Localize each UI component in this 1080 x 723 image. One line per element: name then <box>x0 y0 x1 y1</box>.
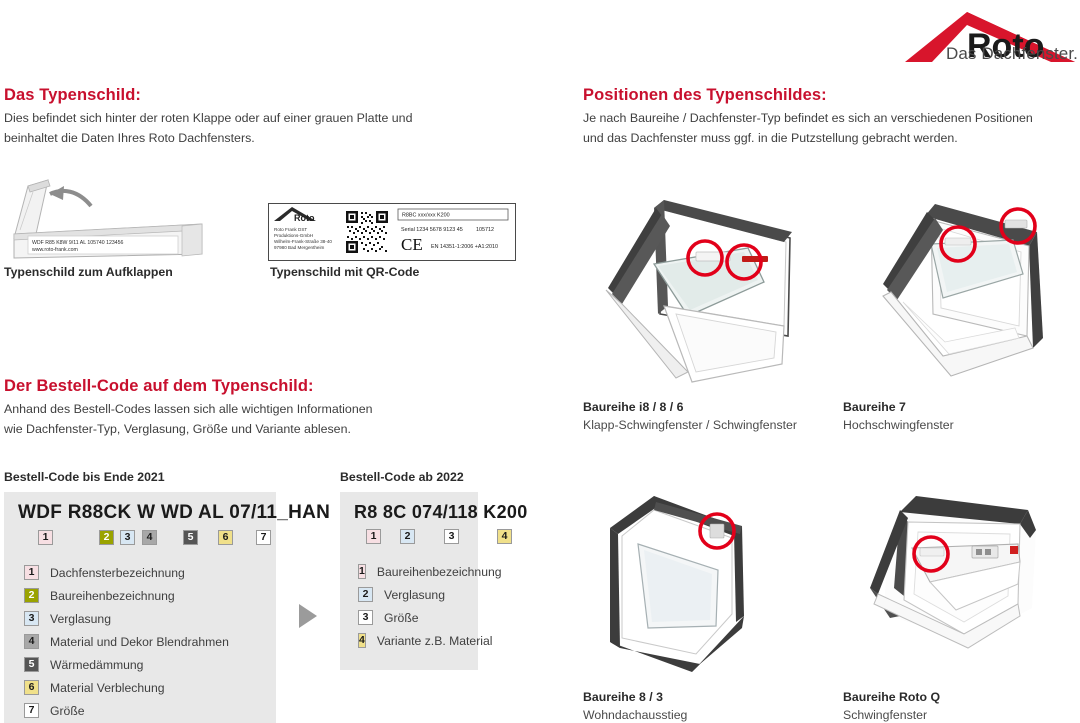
heading-das-typenschild: Das Typenschild: <box>4 86 141 105</box>
qr-address-line2: Produktions-GmbH <box>274 233 313 238</box>
ce-mark-icon: CE <box>401 235 423 254</box>
legend-item: 3Größe <box>358 606 466 629</box>
code-marker-badge-1: 1 <box>38 530 53 545</box>
window-photo-i8-8-6 <box>592 186 812 386</box>
legend-item-label: Wärmedämmung <box>50 658 143 672</box>
legend-item: 4Variante z.B. Material <box>358 629 466 652</box>
window-photo-baureihe-7 <box>847 186 1067 386</box>
legend-item: 6Material Verblechung <box>24 676 264 699</box>
section1-paragraph-line2: beinhaltet die Daten Ihres Roto Dachfens… <box>4 131 255 145</box>
code-old-title: Bestell-Code bis Ende 2021 <box>4 470 165 484</box>
legend-item-label: Variante z.B. Material <box>377 634 493 648</box>
flap-label-line2: www.roto-frank.com <box>32 247 78 253</box>
code-old-string: WDF R88CK W WD AL 07/11_HAN <box>18 502 264 524</box>
right-triangle-arrow-icon <box>299 604 317 628</box>
code-marker-badge-7: 7 <box>24 703 39 718</box>
order-code-panel-old: WDF R88CK W WD AL 07/11_HAN 1234567 1Dac… <box>4 492 276 723</box>
flap-plate-illustration: WDF R85 K8W 9/11 AL 105740 123456 www.ro… <box>6 178 216 256</box>
right-paragraph: Je nach Baureihe / Dachfenster-Typ befin… <box>583 108 1063 148</box>
legend-item: 3Verglasung <box>24 607 264 630</box>
code-marker-badge-3: 3 <box>358 610 373 625</box>
legend-item-label: Material und Dekor Blendrahmen <box>50 635 229 649</box>
code-marker-badge-6: 6 <box>218 530 233 545</box>
code-marker-badge-2: 2 <box>24 588 39 603</box>
section2-paragraph-line2: wie Dachfenster-Typ, Verglasung, Größe u… <box>4 422 351 436</box>
code-marker-badge-5: 5 <box>183 530 198 545</box>
code-marker-badge-5: 5 <box>24 657 39 672</box>
qr-code-field: R8BC xxx/xxx K200 <box>402 213 450 219</box>
code-marker-badge-4: 4 <box>142 530 157 545</box>
legend-item-label: Größe <box>384 611 419 625</box>
window-photo-baureihe-8-3 <box>592 476 802 676</box>
legend-item-label: Material Verblechung <box>50 681 165 695</box>
window-2-title: Baureihe 7 <box>843 400 906 414</box>
heading-positionen: Positionen des Typenschildes: <box>583 86 827 105</box>
right-paragraph-line2: und das Dachfenster muss ggf. in die Put… <box>583 131 958 145</box>
code-new-title: Bestell-Code ab 2022 <box>340 470 464 484</box>
order-code-panel-new: R8 8C 074/118 K200 1234 1Baureihenbezeic… <box>340 492 478 670</box>
roto-logo: Roto <box>905 12 1075 74</box>
code-marker-badge-4: 4 <box>497 529 512 544</box>
code-marker-badge-4: 4 <box>24 634 39 649</box>
window-3-subtitle: Wohndachausstieg <box>583 708 687 722</box>
code-new-legend: 1Baureihenbezeichnung2Verglasung3Größe4V… <box>358 560 466 652</box>
right-paragraph-line1: Je nach Baureihe / Dachfenster-Typ befin… <box>583 111 1033 125</box>
legend-item: 1Baureihenbezeichnung <box>358 560 466 583</box>
code-marker-badge-7: 7 <box>256 530 271 545</box>
code-marker-badge-1: 1 <box>366 529 381 544</box>
legend-item: 4Material und Dekor Blendrahmen <box>24 630 264 653</box>
flap-label-line1: WDF R85 K8W 9/11 AL 105740 123456 <box>32 240 124 246</box>
section2-paragraph-line1: Anhand des Bestell-Codes lassen sich all… <box>4 402 373 416</box>
qr-serial-number: 105712 <box>476 227 494 233</box>
code-marker-badge-2: 2 <box>99 530 114 545</box>
code-marker-badge-3: 3 <box>120 530 135 545</box>
qr-code-icon <box>346 211 388 253</box>
qr-serial: Serial 1234 5678 9123 45 <box>401 227 463 233</box>
legend-item: 2Baureihenbezeichnung <box>24 584 264 607</box>
legend-item: 2Verglasung <box>358 583 466 606</box>
qr-address-line4: 97980 Bad Mergentheim <box>274 245 324 250</box>
qr-address-line3: Wilhelm-Frank-Straße 38-40 <box>274 239 332 244</box>
legend-item-label: Baureihenbezeichnung <box>377 565 502 579</box>
legend-item: 1Dachfensterbezeichnung <box>24 561 264 584</box>
code-marker-badge-4: 4 <box>358 633 366 648</box>
code-marker-badge-6: 6 <box>24 680 39 695</box>
window-2-subtitle: Hochschwingfenster <box>843 418 954 432</box>
legend-item-label: Dachfensterbezeichnung <box>50 566 185 580</box>
legend-item-label: Verglasung <box>50 612 111 626</box>
window-1-title: Baureihe i8 / 8 / 6 <box>583 400 683 414</box>
code-new-marker-row: 1234 <box>352 529 466 546</box>
qr-plate-illustration: Roto Roto Frank DST Produktions-GmbH Wil… <box>268 203 516 259</box>
code-marker-badge-2: 2 <box>358 587 373 602</box>
code-marker-badge-1: 1 <box>358 564 366 579</box>
svg-text:Roto: Roto <box>294 213 315 223</box>
heading-bestell-code: Der Bestell-Code auf dem Typenschild: <box>4 377 314 396</box>
section2-paragraph: Anhand des Bestell-Codes lassen sich all… <box>4 399 454 439</box>
qr-norm: EN 14351-1:2006 +A1:2010 <box>431 244 498 250</box>
window-4-subtitle: Schwingfenster <box>843 708 927 722</box>
legend-item: 5Wärmedämmung <box>24 653 264 676</box>
code-marker-badge-3: 3 <box>24 611 39 626</box>
qr-address-line1: Roto Frank DST <box>274 227 307 232</box>
section1-paragraph: Dies befindet sich hinter der roten Klap… <box>4 108 454 148</box>
code-marker-badge-1: 1 <box>24 565 39 580</box>
window-4-title: Baureihe Roto Q <box>843 690 940 704</box>
section1-paragraph-line1: Dies befindet sich hinter der roten Klap… <box>4 111 412 125</box>
code-new-string: R8 8C 074/118 K200 <box>354 502 466 523</box>
legend-item-label: Größe <box>50 704 85 718</box>
legend-item: 7Größe <box>24 699 264 722</box>
legend-item-label: Verglasung <box>384 588 445 602</box>
code-marker-badge-2: 2 <box>400 529 415 544</box>
window-3-title: Baureihe 8 / 3 <box>583 690 663 704</box>
code-old-legend: 1Dachfensterbezeichnung2Baureihenbezeich… <box>24 561 264 722</box>
code-old-marker-row: 1234567 <box>16 530 264 547</box>
code-marker-badge-3: 3 <box>444 529 459 544</box>
figure2-caption: Typenschild mit QR-Code <box>270 265 419 279</box>
legend-item-label: Baureihenbezeichnung <box>50 589 175 603</box>
brand-tagline: Das Dachfenster. <box>946 44 1078 64</box>
figure1-caption: Typenschild zum Aufklappen <box>4 265 173 279</box>
window-1-subtitle: Klapp-Schwingfenster / Schwingfenster <box>583 418 797 432</box>
page-root: Roto Das Dachfenster. Das Typenschild: D… <box>0 0 1080 723</box>
window-photo-roto-q <box>860 476 1070 676</box>
